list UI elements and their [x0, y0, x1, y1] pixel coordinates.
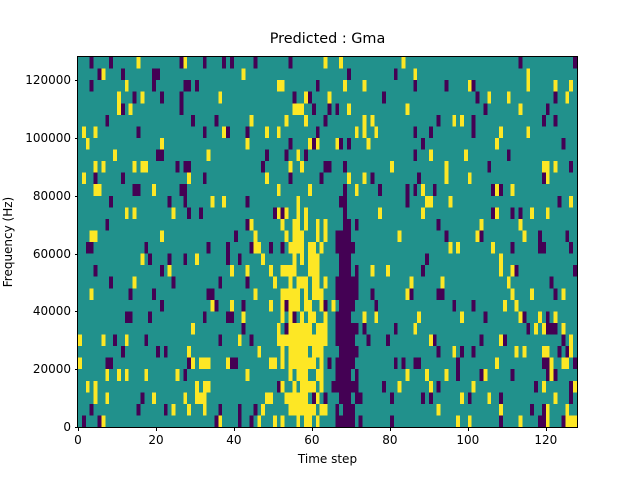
x-tick-mark	[312, 427, 313, 431]
y-tick-label: 80000	[33, 189, 71, 203]
y-tick-mark	[75, 138, 79, 139]
x-tick-label: 0	[74, 433, 82, 447]
page-title: Predicted : Gma	[78, 30, 577, 48]
y-tick-mark	[75, 311, 79, 312]
x-tick-mark	[546, 427, 547, 431]
x-tick-mark	[468, 427, 469, 431]
x-axis-label: Time step	[78, 452, 577, 466]
y-tick-mark	[75, 196, 79, 197]
y-tick-label: 60000	[33, 247, 71, 261]
y-tick-label: 100000	[25, 131, 71, 145]
x-tick-label: 100	[456, 433, 479, 447]
spectrogram-heatmap	[78, 57, 577, 427]
x-tick-label: 120	[534, 433, 557, 447]
y-tick-label: 20000	[33, 362, 71, 376]
y-tick-mark	[75, 80, 79, 81]
x-tick-label: 40	[226, 433, 241, 447]
y-tick-label: 40000	[33, 304, 71, 318]
x-tick-mark	[156, 427, 157, 431]
x-tick-mark	[234, 427, 235, 431]
x-tick-label: 80	[382, 433, 397, 447]
y-axis-label: Frequency (Hz)	[0, 57, 16, 427]
y-tick-mark	[75, 369, 79, 370]
y-tick-label: 120000	[25, 73, 71, 87]
x-tick-mark	[78, 427, 79, 431]
y-tick-mark	[75, 254, 79, 255]
matplotlib-figure: Predicted : Gma 020406080100120 02000040…	[0, 0, 640, 480]
x-tick-label: 20	[148, 433, 163, 447]
x-tick-label: 60	[304, 433, 319, 447]
y-axis-label-text: Frequency (Hz)	[1, 197, 15, 288]
x-tick-mark	[390, 427, 391, 431]
y-tick-mark	[75, 427, 79, 428]
y-tick-label: 0	[63, 420, 71, 434]
spectrogram-axes	[77, 56, 578, 428]
